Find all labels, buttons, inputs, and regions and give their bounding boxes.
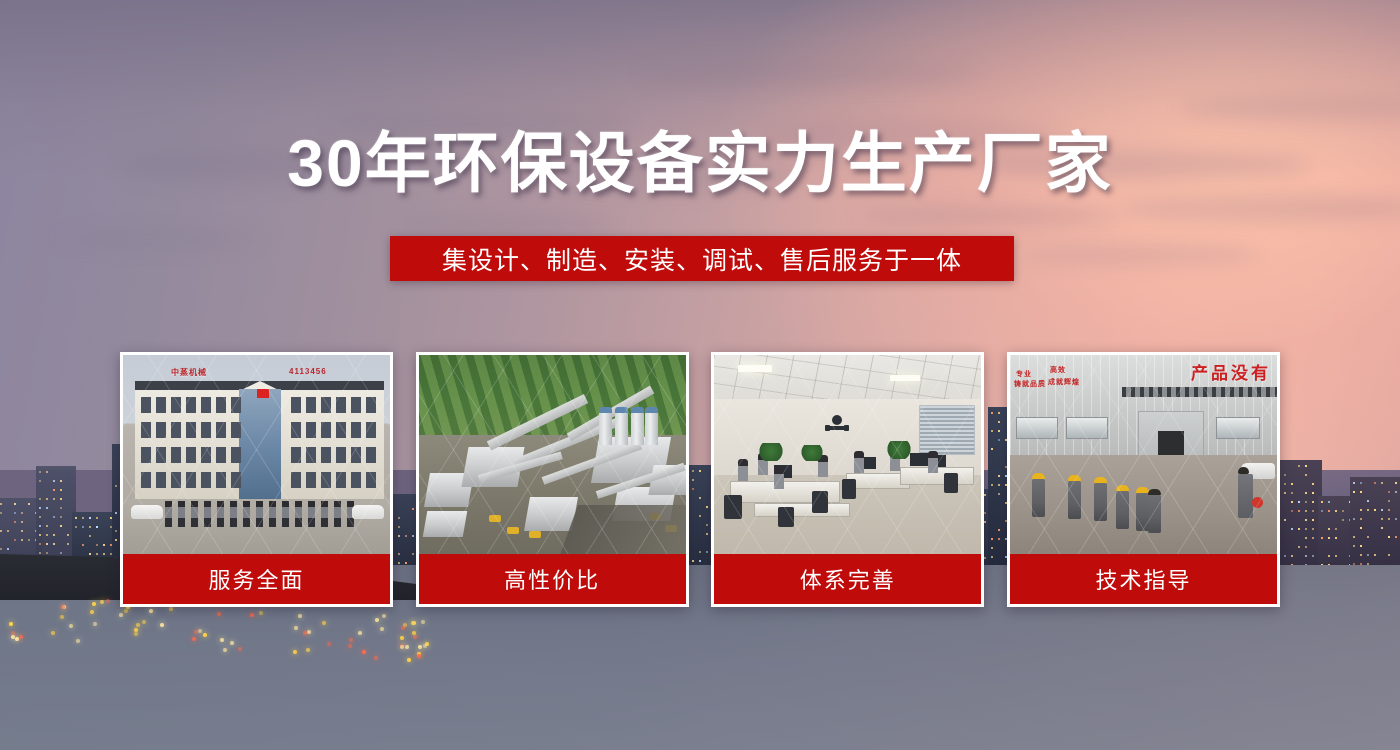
workshop-wall-text: 产品没有 (1191, 359, 1271, 384)
card-caption: 高性价比 (419, 554, 686, 604)
feature-card[interactable]: 体系完善 (711, 352, 984, 607)
card-caption: 体系完善 (714, 554, 981, 604)
building-phone-text: 4113456 (289, 367, 327, 376)
building-sign-text: 中蒸机械 (171, 367, 207, 378)
wall-slogan-4: 成就辉煌 (1048, 377, 1080, 387)
wall-slogan-2: 高效 (1050, 365, 1066, 375)
wall-slogan-3: 铸就品质 (1014, 379, 1046, 389)
company-headquarters-photo: 中蒸机械 4113456 (123, 355, 390, 554)
feature-card[interactable]: 产品没有 专业 高效 铸就品质 成就辉煌 技术指导 (1007, 352, 1280, 607)
production-plant-aerial-photo (419, 355, 686, 554)
wall-logo (824, 411, 850, 433)
feature-card-list: 中蒸机械 4113456 服务全面 高性价比 (120, 352, 1280, 607)
office-interior-photo (714, 355, 981, 554)
card-caption: 服务全面 (123, 554, 390, 604)
subtitle-bar: 集设计、制造、安装、调试、售后服务于一体 (390, 236, 1014, 281)
promo-banner: 30年环保设备实力生产厂家 集设计、制造、安装、调试、售后服务于一体 中蒸机械 … (0, 0, 1400, 750)
feature-card[interactable]: 中蒸机械 4113456 服务全面 (120, 352, 393, 607)
subtitle-text: 集设计、制造、安装、调试、售后服务于一体 (442, 241, 962, 277)
card-caption: 技术指导 (1010, 554, 1277, 604)
feature-card[interactable]: 高性价比 (416, 352, 689, 607)
page-title: 30年环保设备实力生产厂家 (0, 130, 1400, 196)
wall-slogan-1: 专业 (1016, 369, 1032, 379)
technical-training-photo: 产品没有 专业 高效 铸就品质 成就辉煌 (1010, 355, 1277, 554)
